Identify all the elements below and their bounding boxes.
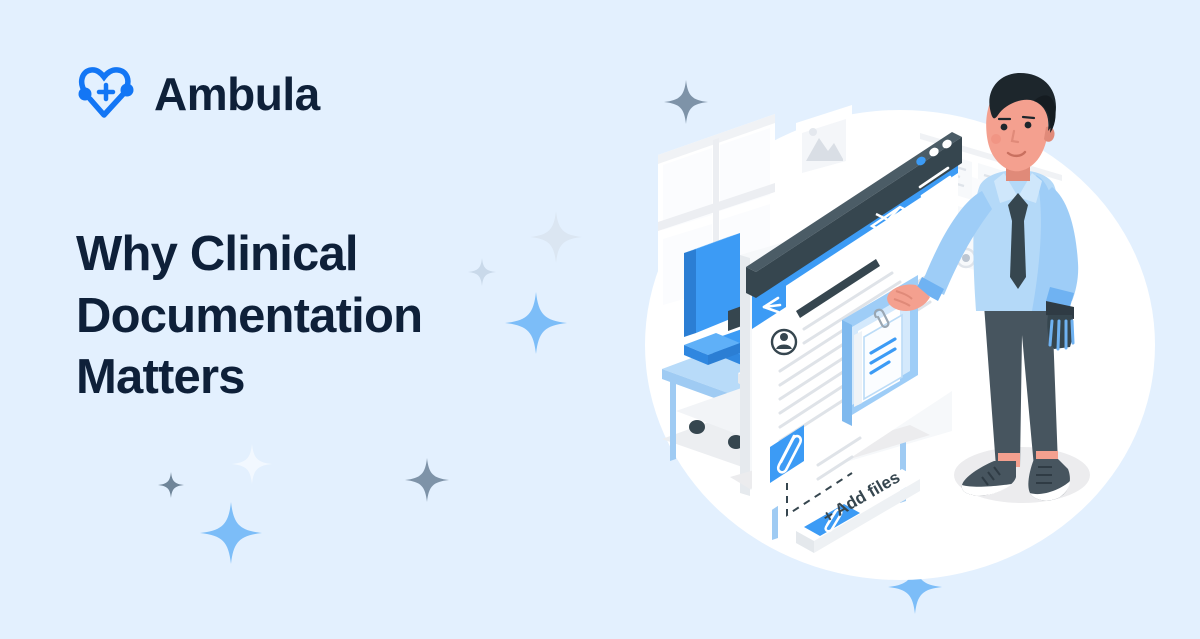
heart-stethoscope-icon [76, 63, 140, 125]
sparkle-lower-white [232, 444, 272, 484]
brand-name: Ambula [154, 71, 320, 117]
sparkle-mid-left [530, 211, 582, 263]
sparkle-blue-bottom [200, 502, 262, 564]
sparkle-small-left [468, 258, 496, 286]
page-title: Why Clinical Documentation Matters [76, 224, 506, 409]
sparkle-blue-large [505, 292, 567, 354]
clinical-documentation-illustration: + Add files [600, 15, 1200, 639]
brand-logo[interactable]: Ambula [76, 63, 320, 125]
sparkle-tiny-left [158, 472, 184, 498]
hero-banner: Ambula Why Clinical Documentation Matter… [0, 0, 1200, 639]
avatar-icon [772, 330, 796, 354]
sparkle-lower-gray [405, 458, 449, 502]
